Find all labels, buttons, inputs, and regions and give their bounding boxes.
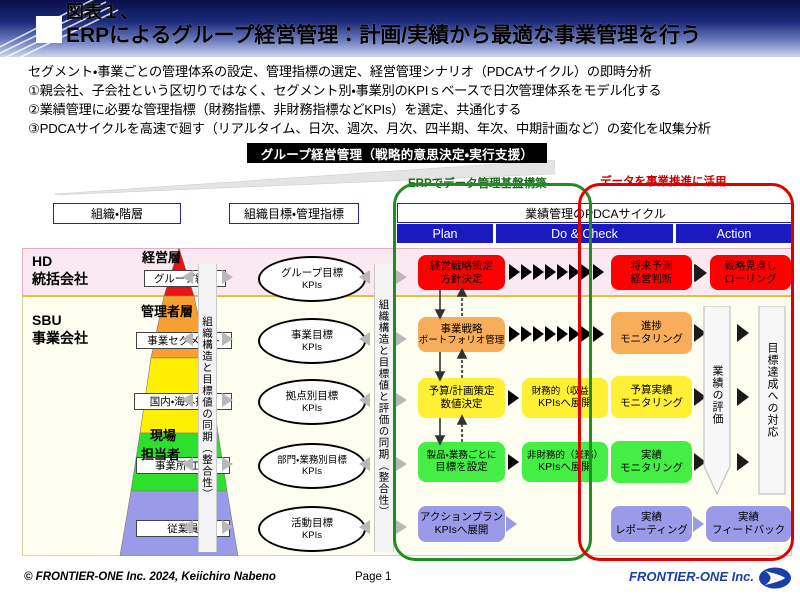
grey-arrow-right-4 xyxy=(222,520,233,534)
grey-arrow-right-3 xyxy=(222,457,233,471)
callout-erp-platform: ERPでデータ管理基盤構築 xyxy=(408,175,547,191)
label-sbu-line2: 事業会社 xyxy=(32,330,88,346)
vstrip-eval-sync: 組織構造と目標値と評価の同期（整合性） xyxy=(374,264,394,552)
plan-expand-arrow-1 xyxy=(508,454,519,470)
plan-box-0-line2: 方針決定 xyxy=(441,273,483,286)
docheck-box-2-line2: モニタリング xyxy=(620,397,683,410)
slide-title-bar: 図表１、 ERPによるグループ経営管理：計画/実績から最適な事業管理を行う xyxy=(0,0,800,57)
page-title: 図表１、 ERPによるグループ経営管理：計画/実績から最適な事業管理を行う xyxy=(66,2,796,48)
action-box-0-line2: ローリング xyxy=(724,273,777,286)
action-arrow-0 xyxy=(695,264,707,282)
action-box-1-line2: フィードバック xyxy=(712,524,785,537)
grey-arrow-right-1 xyxy=(222,332,233,346)
label-sbu-line1: SBU xyxy=(32,312,62,328)
response-arrow-2 xyxy=(737,453,749,471)
pdca-header-action: Action xyxy=(676,224,792,243)
docheck-box-1: 進捗 モニタリング xyxy=(611,312,692,354)
docheck-box-2-line1: 予算実績 xyxy=(631,384,673,397)
label-hd-line2: 統括会社 xyxy=(32,271,88,287)
docheck-box-1-line2: モニタリング xyxy=(620,333,683,346)
plan-box-0-line1: 経営戦略策定 xyxy=(430,260,493,273)
plan-flow-connectors xyxy=(418,288,508,513)
docheck-box-3-line2: モニタリング xyxy=(620,462,683,475)
pyramid-side-label-2: 現場 xyxy=(150,428,176,444)
pyramid-side-label-1: 管理者層 xyxy=(141,304,193,320)
response-arrow-1 xyxy=(737,388,749,406)
grey-arrow-left-4 xyxy=(182,520,193,534)
docheck-box-4: 実績 レポーティング xyxy=(611,506,692,542)
plan-box-0: 経営戦略策定 方針決定 xyxy=(418,255,505,290)
pyramid-side-label-0: 経営層 xyxy=(142,250,181,266)
response-arrow-0 xyxy=(737,324,749,342)
footer-page-number: Page 1 xyxy=(355,571,391,583)
docheck-box-2: 予算実績 モニタリング xyxy=(611,376,692,418)
kpi-oval-3-kpi: KPIs xyxy=(302,466,322,477)
plan-box-4-line1: アクションプラン xyxy=(420,511,503,524)
grey-arrow-right2-2 xyxy=(396,393,407,407)
kpi-oval-0-kpi: KPIs xyxy=(302,280,322,291)
docheck-box-3: 実績 モニタリング xyxy=(611,441,692,483)
title-line-1: 図表１、 xyxy=(66,2,796,22)
header-organization: 組織・階層 xyxy=(53,203,181,224)
grey-arrow-right-0 xyxy=(222,270,233,284)
white-arrow-response-label: 目標達成への対応 xyxy=(759,320,785,460)
docheck-box-0: 将来予測 経営判断 xyxy=(611,255,692,290)
kpi-oval-0-name: グループ目標 xyxy=(281,267,343,279)
bullet-2: ②業績管理に必要な管理指標（財務指標、非財務指標などKPIs）を選定、共通化する xyxy=(28,100,788,119)
grey-arrow-left2-4 xyxy=(359,520,370,534)
docheck-arrow-4 xyxy=(693,516,704,532)
kpi-oval-2-kpi: KPIs xyxy=(302,403,322,414)
plan-expand-box-1: 非財務的（業務） KPIsへ展開 xyxy=(522,442,608,482)
triangle-strip-row-0 xyxy=(509,264,604,280)
label-hd-company: HD 統括会社 xyxy=(32,253,88,288)
vstrip-org-sync: 組織構造と目標値の同期（整合性） xyxy=(198,264,217,552)
grey-arrow-right-2 xyxy=(222,393,233,407)
title-line-2: ERPによるグループ経営管理：計画/実績から最適な事業管理を行う xyxy=(66,24,796,48)
kpi-oval-1-name: 事業目標 xyxy=(291,329,333,341)
white-arrow-evaluation-label: 業績の評価 xyxy=(704,340,730,450)
action-box-1: 実績 フィードバック xyxy=(706,506,791,542)
grey-arrow-right2-0 xyxy=(396,270,407,284)
group-management-banner: グループ経営管理（戦略的意思決定・実行支援） xyxy=(247,143,547,163)
footer-copyright: © FRONTIER-ONE Inc. 2024, Keiichiro Nabe… xyxy=(24,571,276,583)
docheck-box-4-line2: レポーティング xyxy=(615,524,688,537)
plan-expand-box-1-line2: KPIsへ展開 xyxy=(538,461,592,474)
grey-arrow-left-1 xyxy=(182,332,193,346)
plan-expand-box-0-line2: KPIsへ展開 xyxy=(538,397,592,410)
summary-bullets: セグメント・事業ごとの管理体系の設定、管理指標の選定、経営管理シナリオ（PDCA… xyxy=(28,62,788,138)
bullet-0: セグメント・事業ごとの管理体系の設定、管理指標の選定、経営管理シナリオ（PDCA… xyxy=(28,62,788,81)
grey-arrow-left2-3 xyxy=(359,457,370,471)
pdca-header-plan: Plan xyxy=(397,224,493,243)
plan-expand-box-1-line1: 非財務的（業務） xyxy=(527,450,603,461)
kpi-oval-3: 部門・業務別目標 KPIs xyxy=(258,443,366,489)
plan-expand-arrow-0 xyxy=(508,390,519,406)
bullet-1: ①親会社、子会社という区切りではなく、セグメント別・事業別のKPIｓベースで日次… xyxy=(28,81,788,100)
grey-arrow-right2-4 xyxy=(396,520,407,534)
plan-expand-box-0-line1: 財務的（収益） xyxy=(532,386,599,397)
grey-arrow-left2-2 xyxy=(359,393,370,407)
docheck-box-0-line2: 経営判断 xyxy=(631,273,673,286)
grey-arrow-right2-3 xyxy=(396,457,407,471)
kpi-oval-4: 活動目標 KPIs xyxy=(258,506,366,552)
label-hd-line1: HD xyxy=(32,253,52,269)
plan-expand-box-0: 財務的（収益） KPIsへ展開 xyxy=(522,378,608,418)
kpi-oval-1: 事業目標 KPIs xyxy=(258,318,366,364)
grey-arrow-left2-1 xyxy=(359,332,370,346)
header-goals: 組織目標・管理指標 xyxy=(229,203,359,224)
kpi-oval-1-kpi: KPIs xyxy=(302,342,322,353)
footer-brand-name: FRONTIER-ONE Inc. xyxy=(629,569,754,584)
grey-arrow-left-0 xyxy=(182,270,193,284)
kpi-oval-4-name: 活動目標 xyxy=(291,517,333,529)
title-square-decoration xyxy=(36,16,62,43)
kpi-oval-0: グループ目標 KPIs xyxy=(258,256,366,302)
callout-data-utilization: データを事業推進に活用 xyxy=(600,173,727,189)
grey-arrow-right2-1 xyxy=(396,332,407,346)
kpi-oval-3-name: 部門・業務別目標 xyxy=(277,455,347,466)
grey-arrow-left2-0 xyxy=(359,270,370,284)
label-sbu-company: SBU 事業会社 xyxy=(32,312,88,347)
docheck-box-4-line1: 実績 xyxy=(641,511,662,524)
triangle-purple-row-4 xyxy=(506,516,517,532)
pyramid-side-label-3: 担当者 xyxy=(141,447,180,463)
bullet-3: ③PDCAサイクルを高速で廻す（リアルタイム、日次、週次、月次、四半期、年次、中… xyxy=(28,119,788,138)
slide-footer: © FRONTIER-ONE Inc. 2024, Keiichiro Nabe… xyxy=(0,565,800,600)
frontier-one-logo-icon xyxy=(758,567,792,589)
triangle-strip-row-1 xyxy=(509,326,604,342)
plan-box-4-line2: KPIsへ展開 xyxy=(435,524,489,537)
kpi-oval-4-kpi: KPIs xyxy=(302,530,322,541)
grey-arrow-left-2 xyxy=(182,393,193,407)
pdca-header-do-check: Do & Check xyxy=(496,224,673,243)
grey-arrow-left-3 xyxy=(182,457,193,471)
kpi-oval-2-name: 拠点別目標 xyxy=(286,390,339,402)
kpi-oval-2: 拠点別目標 KPIs xyxy=(258,379,366,425)
docheck-box-3-line1: 実績 xyxy=(641,449,662,462)
docheck-box-1-line1: 進捗 xyxy=(641,320,662,333)
diagram-frame: HD 統括会社 SBU 事業会社 グループ統括 事業セグメント 国内・海外拠点 … xyxy=(22,248,792,556)
action-box-0-line1: 戦略見直し xyxy=(724,260,777,273)
docheck-box-0-line1: 将来予測 xyxy=(631,260,673,273)
action-box-0: 戦略見直し ローリング xyxy=(710,255,791,290)
header-pdca-cycle: 業績管理のPDCAサイクル xyxy=(397,203,794,223)
action-box-1-line1: 実績 xyxy=(738,511,759,524)
